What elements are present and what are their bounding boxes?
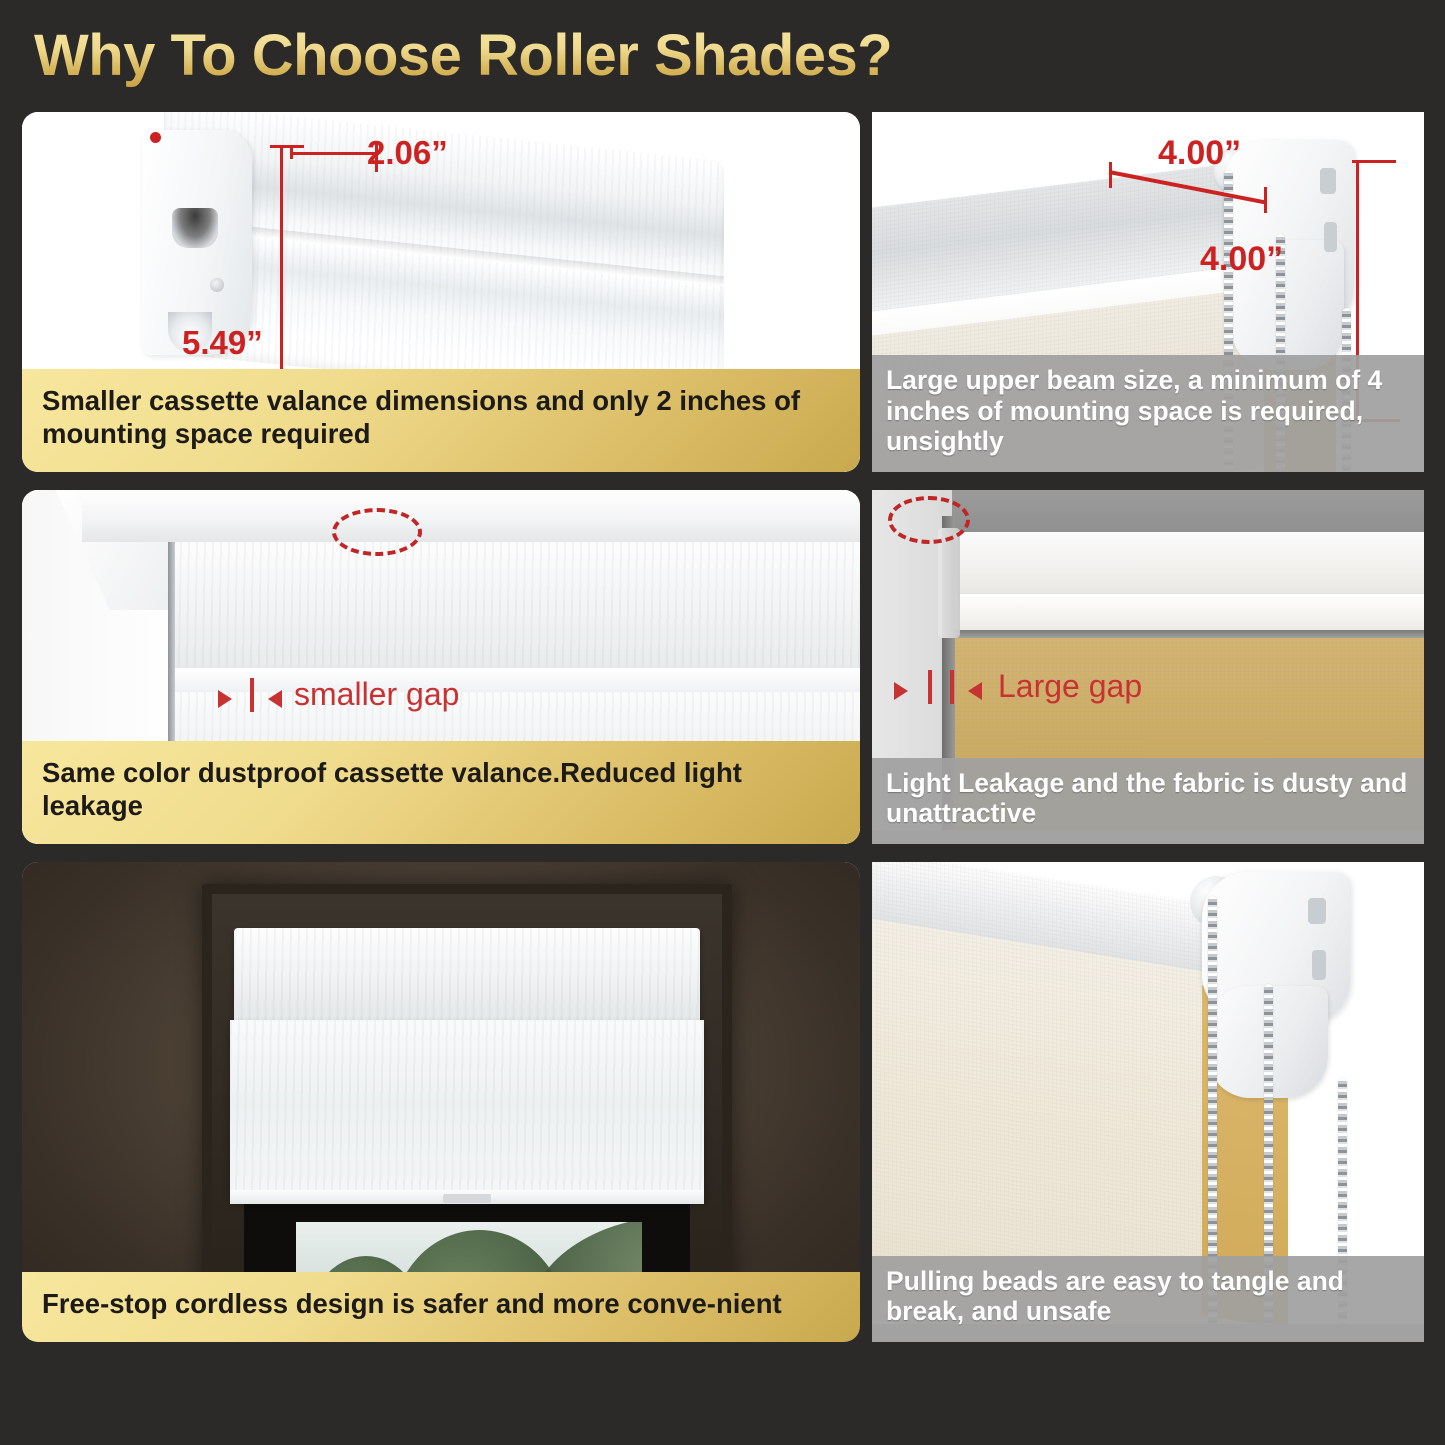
gap-tick <box>250 678 254 712</box>
gap-label: smaller gap <box>294 676 459 713</box>
panel-pulling-beads: Pulling beads are easy to tangle and bre… <box>872 862 1424 1342</box>
width-dim-tick-left <box>1109 162 1112 188</box>
panel-caption: Smaller cassette valance dimensions and … <box>22 369 860 472</box>
panel-caption: Same color dustproof cassette valance.Re… <box>22 741 860 844</box>
bracket-slot-lower <box>1312 950 1326 980</box>
comparison-grid: 2.06” 5.49” Smaller cassette valance dim… <box>0 0 1445 1445</box>
width-dim-tick-right <box>1264 187 1267 213</box>
panel-cassette-dimensions: 2.06” 5.49” Smaller cassette valance dim… <box>22 112 860 472</box>
gap-tick-right <box>950 670 954 704</box>
gap-tick-left <box>928 670 932 704</box>
gap-label: Large gap <box>998 668 1142 705</box>
width-dim-line <box>290 152 378 155</box>
panel-caption: Large upper beam size, a minimum of 4 in… <box>872 355 1424 472</box>
width-dimension-label: 4.00” <box>1158 134 1241 173</box>
gap-arrow-right <box>268 690 282 708</box>
bracket-slot-upper <box>1320 168 1336 194</box>
panel-caption: Light Leakage and the fabric is dusty an… <box>872 758 1424 844</box>
panel-large-beam: 4.00” 4.00” Large upper beam size, a min… <box>872 112 1424 472</box>
valance-end-cap <box>142 130 252 355</box>
gap-arrow-left <box>218 690 232 708</box>
bracket-slot-lower <box>1324 222 1337 252</box>
panel-smaller-gap: smaller gap Same color dustproof cassett… <box>22 490 860 844</box>
highlight-ellipse <box>888 496 970 544</box>
roller-shade-fabric <box>230 1020 704 1200</box>
gap-arrow-left <box>894 682 908 700</box>
bracket-slot <box>172 208 218 248</box>
screw-icon <box>210 278 224 292</box>
bracket-slot-upper <box>1308 898 1326 924</box>
panel-cordless-window: Free-stop cordless design is safer and m… <box>22 862 860 1342</box>
mounting-clip <box>938 528 960 638</box>
red-marker-dot <box>150 132 161 143</box>
height-dimension-label: 5.49” <box>182 324 263 362</box>
gap-arrow-right <box>968 682 982 700</box>
height-dim-tick-top <box>1352 160 1396 163</box>
height-dim-tick-top <box>270 145 304 148</box>
pull-tab <box>443 1194 491 1203</box>
panel-light-leakage: Large gap Light Leakage and the fabric i… <box>872 490 1424 844</box>
height-dimension-label: 4.00” <box>1200 240 1283 279</box>
cordless-window-photo <box>22 862 860 1342</box>
highlight-ellipse <box>332 508 422 556</box>
width-dimension-label: 2.06” <box>367 134 448 172</box>
panel-caption: Pulling beads are easy to tangle and bre… <box>872 1256 1424 1342</box>
panel-caption: Free-stop cordless design is safer and m… <box>22 1272 860 1342</box>
